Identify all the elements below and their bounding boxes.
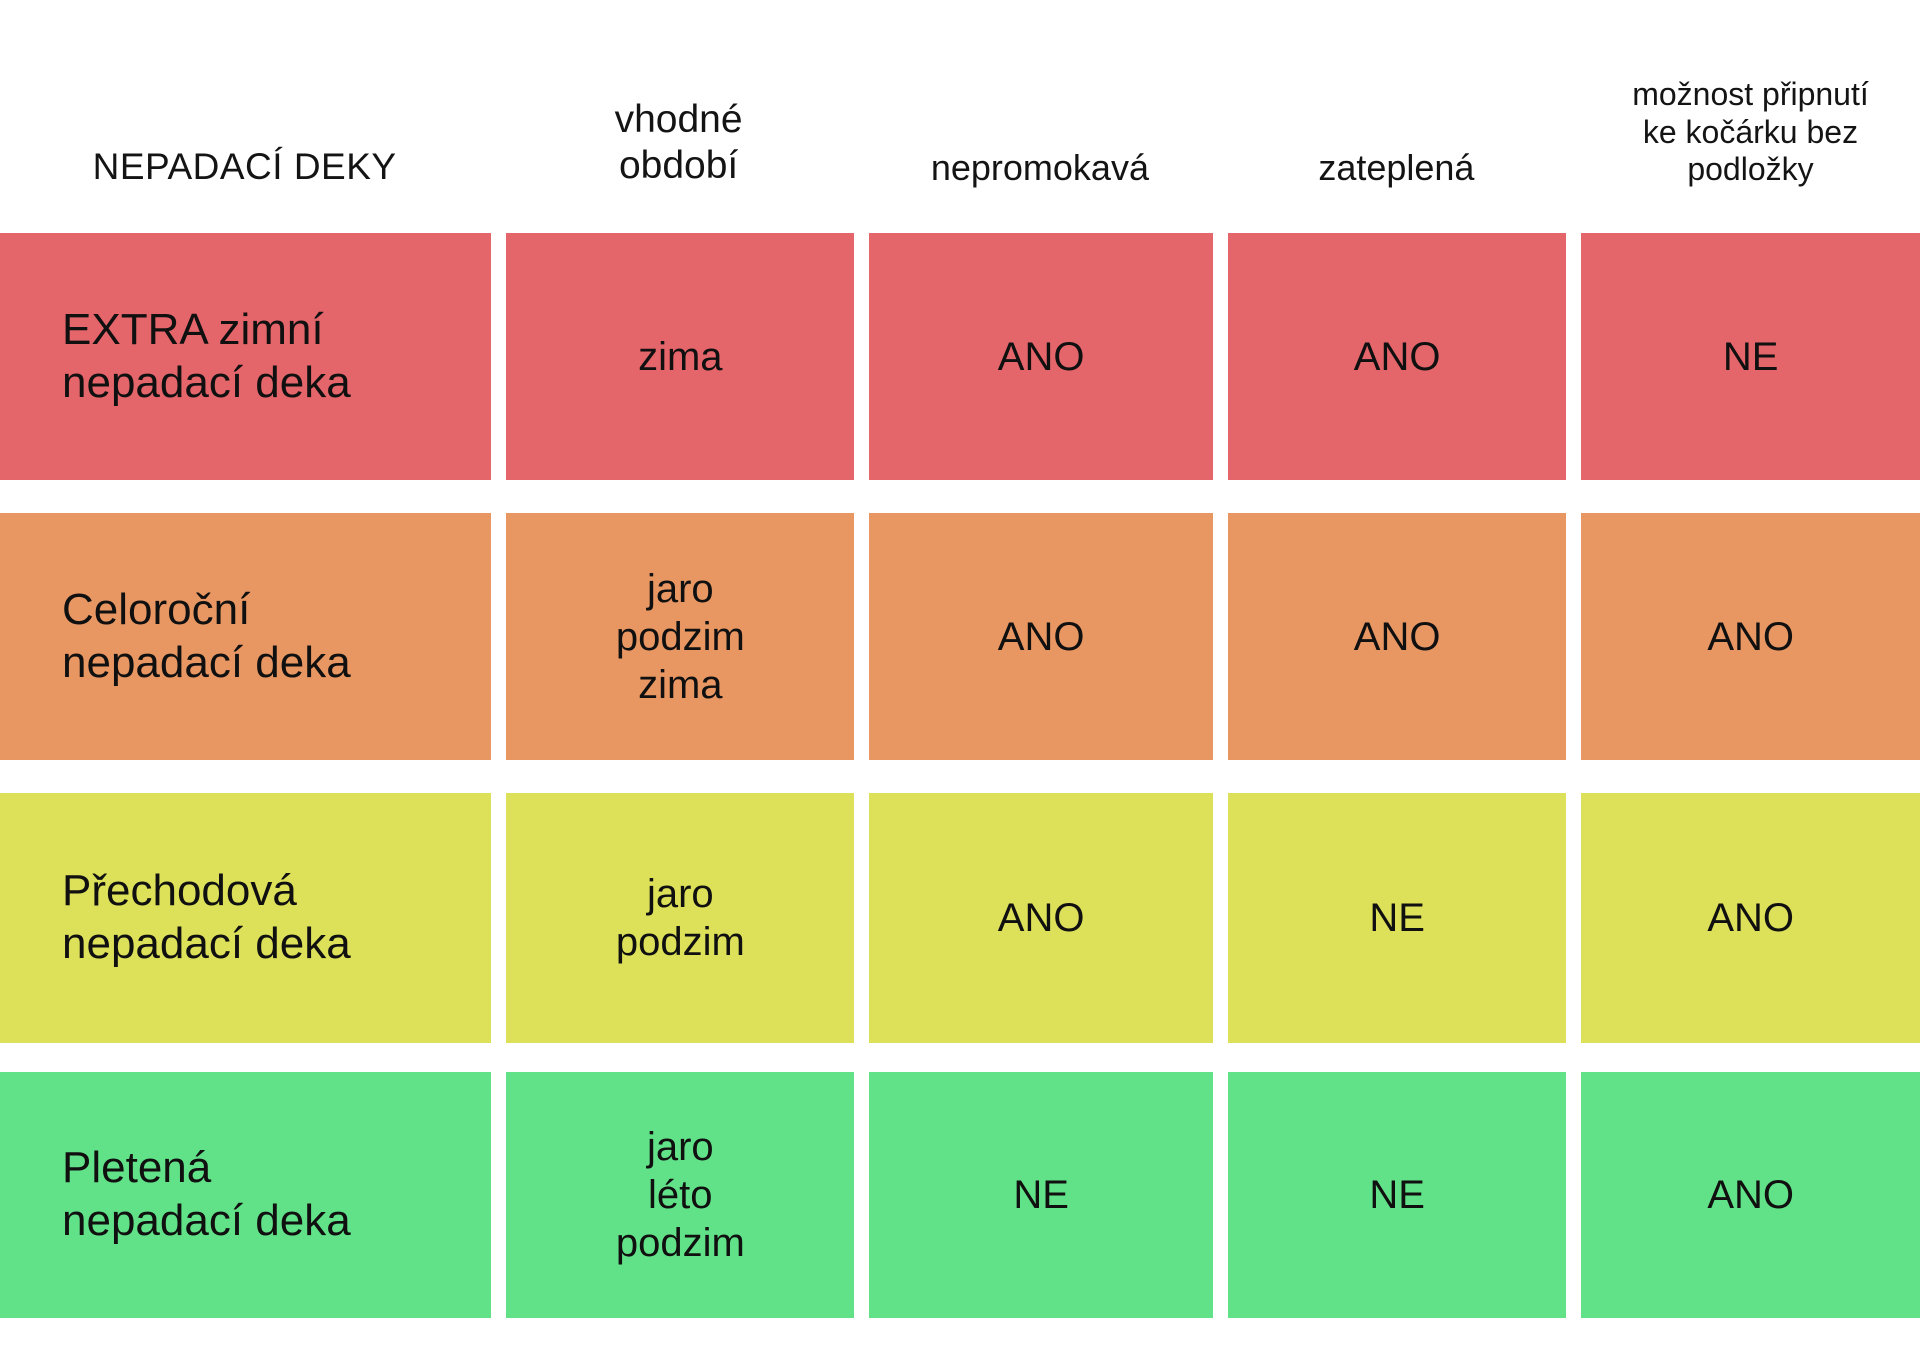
cell-gap [854, 513, 869, 760]
product-name-line-1: EXTRA zimní [62, 304, 351, 357]
cell-waterproof: ANO [869, 793, 1212, 1043]
cell-gap [491, 793, 506, 1043]
cell-product-name: Celoroční nepadací deka [0, 513, 491, 760]
cell-gap [491, 513, 506, 760]
product-name-line-2: nepadací deka [62, 637, 351, 690]
product-name-line-2: nepadací deka [62, 357, 351, 410]
column-header-product-label: NEPADACÍ DEKY [93, 145, 397, 189]
cell-product-name: Přechodová nepadací deka [0, 793, 491, 1043]
cell-gap [491, 233, 506, 480]
cell-season: zima [506, 233, 854, 480]
cell-gap [491, 1072, 506, 1318]
cell-gap [854, 233, 869, 480]
cell-stroller-attach: NE [1581, 233, 1920, 480]
cell-season: jaro podzim [506, 793, 854, 1043]
table-header-row: NEPADACÍ DEKY vhodné období nepromokavá … [0, 0, 1920, 233]
season-line-1: jaro [616, 565, 745, 613]
season-line-2: podzim [616, 918, 745, 966]
product-name-line-1: Celoroční [62, 584, 351, 637]
cell-gap [1566, 1072, 1581, 1318]
season-line-1: jaro [616, 870, 745, 918]
cell-gap [1566, 513, 1581, 760]
comparison-table: NEPADACÍ DEKY vhodné období nepromokavá … [0, 0, 1920, 1353]
column-header-insulated: zateplená [1227, 147, 1566, 233]
cell-gap [1566, 233, 1581, 480]
column-header-season: vhodné období [504, 97, 853, 233]
cell-product-name: EXTRA zimní nepadací deka [0, 233, 491, 480]
column-header-stroller-attach-line-1: možnost připnutí [1632, 76, 1869, 114]
table-row: EXTRA zimní nepadací deka zima ANO ANO N… [0, 233, 1920, 480]
column-header-stroller-attach: možnost připnutí ke kočárku bez podložky [1581, 76, 1920, 233]
season-line-2: léto [616, 1171, 745, 1219]
table-row: Pletená nepadací deka jaro léto podzim N… [0, 1072, 1920, 1318]
season-line-3: podzim [616, 1219, 745, 1267]
cell-insulated: NE [1228, 1072, 1567, 1318]
cell-product-name: Pletená nepadací deka [0, 1072, 491, 1318]
cell-insulated: NE [1228, 793, 1567, 1043]
cell-stroller-attach: ANO [1581, 513, 1920, 760]
column-header-product: NEPADACÍ DEKY [0, 145, 489, 233]
cell-stroller-attach: ANO [1581, 793, 1920, 1043]
column-header-season-line-1: vhodné [615, 97, 743, 143]
season-line-3: zima [616, 661, 745, 709]
cell-insulated: ANO [1228, 233, 1567, 480]
cell-gap [1213, 233, 1228, 480]
product-name-line-2: nepadací deka [62, 918, 351, 971]
cell-stroller-attach: ANO [1581, 1072, 1920, 1318]
cell-waterproof: ANO [869, 513, 1212, 760]
cell-gap [1566, 793, 1581, 1043]
column-header-waterproof: nepromokavá [868, 147, 1212, 233]
season-line-1: jaro [616, 1123, 745, 1171]
column-header-stroller-attach-line-2: ke kočárku bez [1632, 114, 1869, 152]
table-row: Přechodová nepadací deka jaro podzim ANO… [0, 793, 1920, 1043]
cell-gap [1213, 513, 1228, 760]
cell-waterproof: NE [869, 1072, 1212, 1318]
cell-gap [854, 1072, 869, 1318]
product-name-line-1: Přechodová [62, 865, 351, 918]
column-header-insulated-label: zateplená [1318, 147, 1474, 189]
table-row: Celoroční nepadací deka jaro podzim zima… [0, 513, 1920, 760]
season-line-1: zima [638, 333, 722, 381]
season-line-2: podzim [616, 613, 745, 661]
product-name-line-2: nepadací deka [62, 1195, 351, 1248]
product-name-line-1: Pletená [62, 1142, 351, 1195]
column-header-waterproof-label: nepromokavá [931, 147, 1149, 189]
cell-insulated: ANO [1228, 513, 1567, 760]
cell-season: jaro podzim zima [506, 513, 854, 760]
cell-gap [1213, 1072, 1228, 1318]
cell-waterproof: ANO [869, 233, 1212, 480]
cell-gap [854, 793, 869, 1043]
cell-gap [1213, 793, 1228, 1043]
column-header-stroller-attach-line-3: podložky [1632, 151, 1869, 189]
cell-season: jaro léto podzim [506, 1072, 854, 1318]
column-header-season-line-2: období [615, 143, 743, 189]
